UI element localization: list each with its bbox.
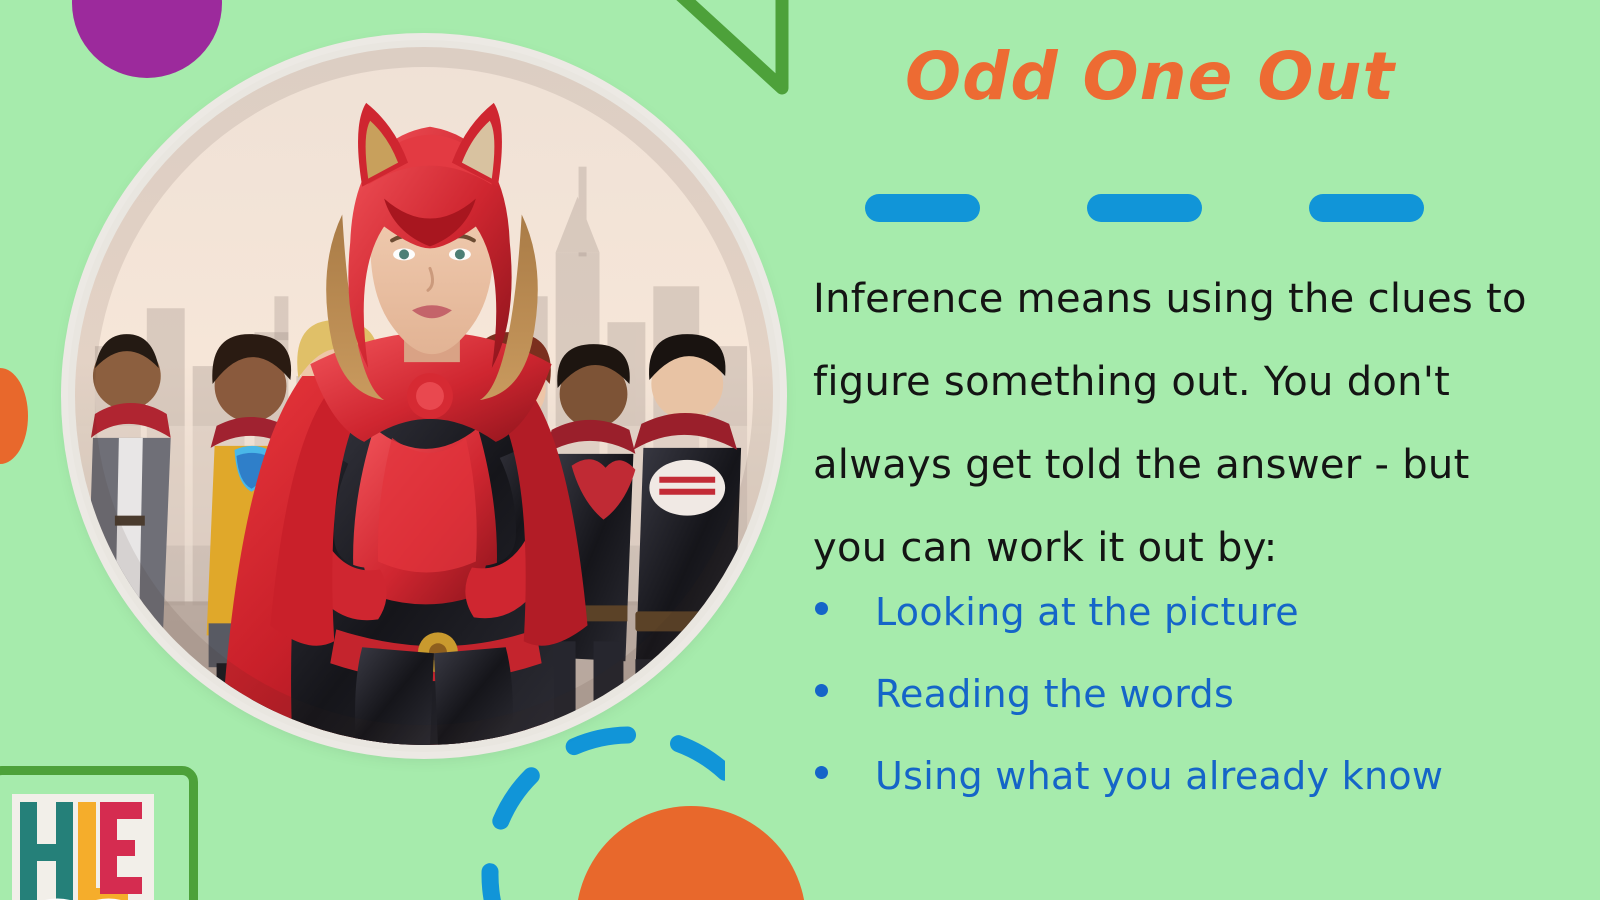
inference-methods-list: Looking at the picture Reading the words… [815,590,1575,836]
hero-photo [75,47,773,745]
bullet-dot-icon [815,684,828,697]
content-column: Odd One Out Inference means using the cl… [805,0,1600,900]
title-dash-1 [865,194,980,222]
list-item-label: Reading the words [875,672,1234,716]
list-item: Looking at the picture [815,590,1575,672]
list-item: Reading the words [815,672,1575,754]
list-item-label: Looking at the picture [875,590,1299,634]
body-paragraph: Inference means using the clues to figur… [813,258,1543,590]
title-dash-3 [1309,194,1424,222]
purple-circle-decoration [72,0,222,78]
list-item-label: Using what you already know [875,754,1443,798]
hero-photo-illustration [75,47,773,745]
page-title: Odd One Out [805,38,1495,115]
logo-card [12,794,154,900]
hle-logo [0,766,198,900]
title-dash-2 [1087,194,1202,222]
list-item: Using what you already know [815,754,1575,836]
bullet-dot-icon [815,602,828,615]
logo-graphic [12,794,154,900]
hero-photo-frame [68,40,780,752]
bullet-dot-icon [815,766,828,779]
title-underline-dashes [865,194,1485,224]
slide-canvas: Odd One Out Inference means using the cl… [0,0,1600,900]
orange-circle-left-decoration [0,368,28,464]
